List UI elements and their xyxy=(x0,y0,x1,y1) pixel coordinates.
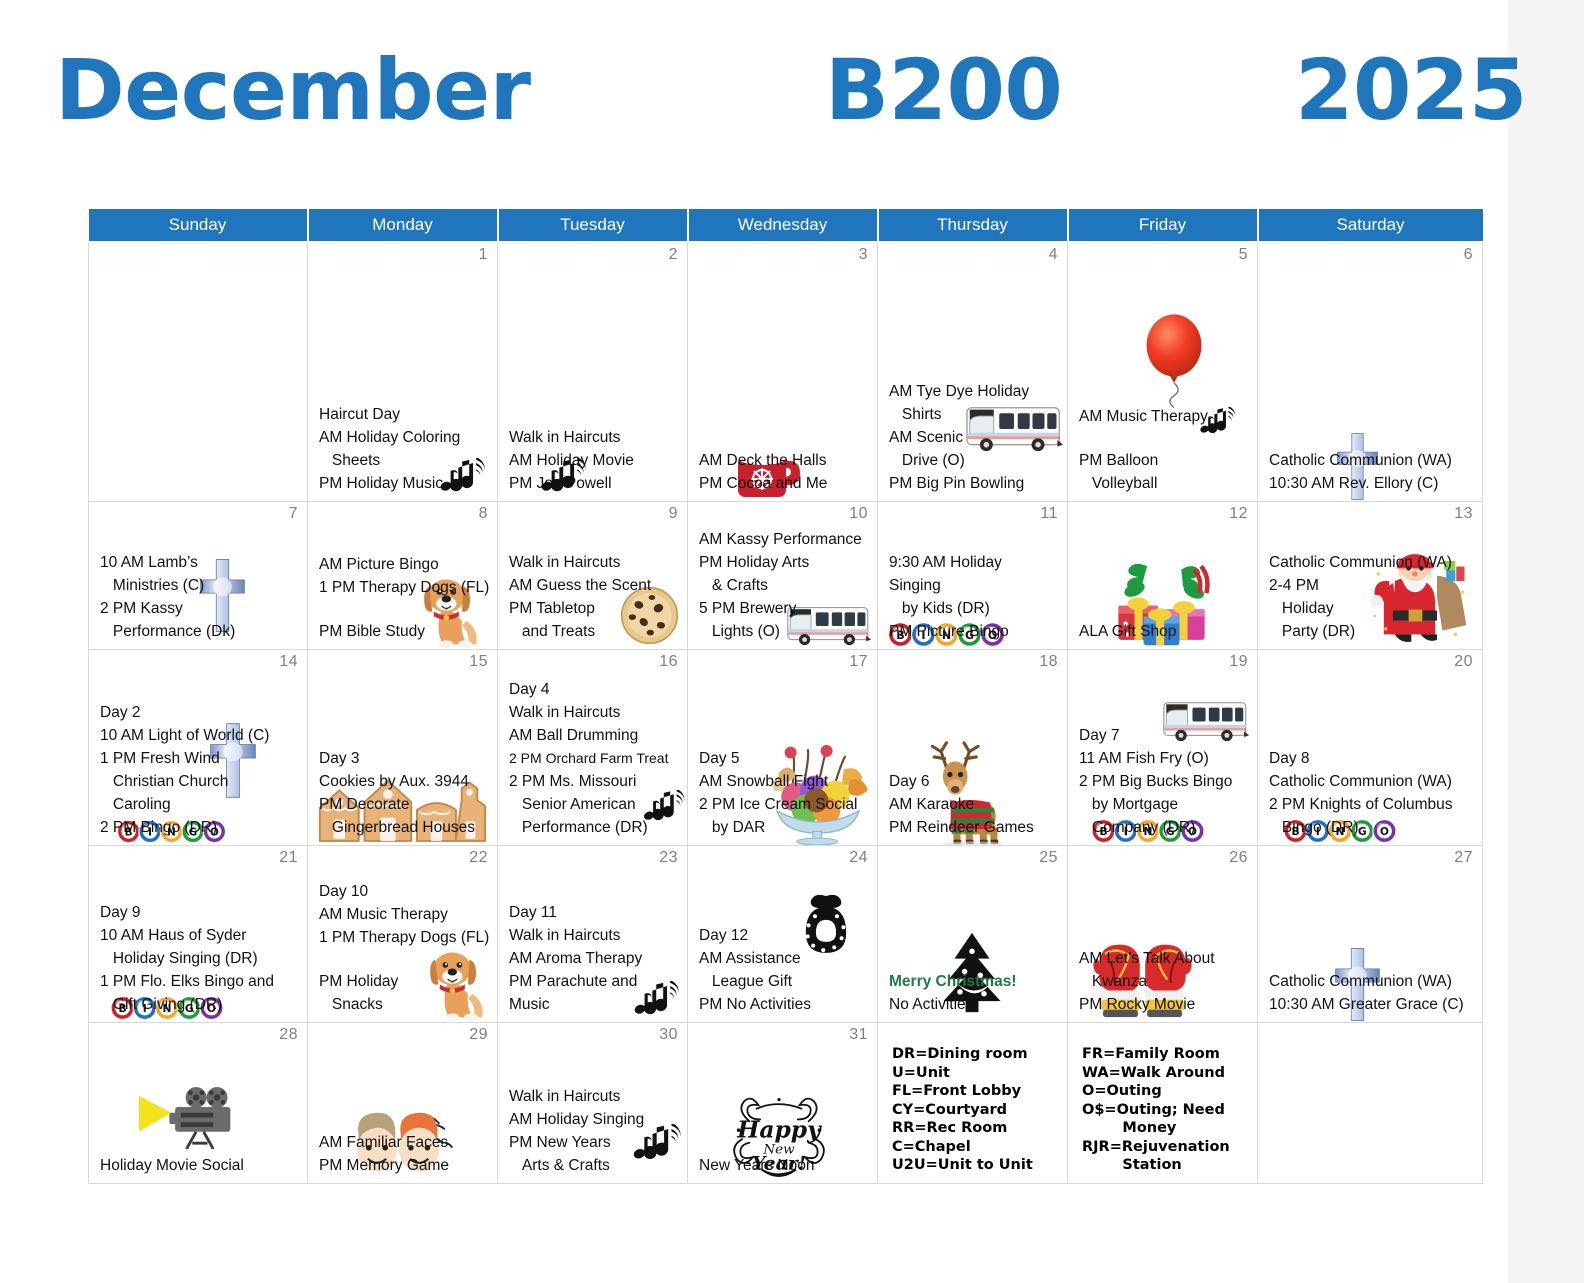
day-number: 29 xyxy=(469,1026,488,1044)
day-event: Day 10 xyxy=(319,880,491,903)
day-event: AM Holiday Coloring xyxy=(319,426,491,449)
day-cell-inner: 1 Haircut DayAM Holiday Coloring SheetsP… xyxy=(308,243,497,501)
legend-entry: FR=Family Room xyxy=(1082,1045,1253,1064)
day-number: 22 xyxy=(469,849,488,867)
day-event: 1 PM Therapy Dogs (FL) xyxy=(319,926,491,949)
day-event: Holiday Movie Social xyxy=(100,1154,301,1177)
day-number: 1 xyxy=(479,246,488,264)
day-event: Day 6 xyxy=(889,770,1061,793)
day-event: Walk in Haircuts xyxy=(509,426,681,449)
day-event: 2 PM Ms. Missouri xyxy=(509,770,681,793)
day-number: 2 xyxy=(669,246,678,264)
calendar-day-cell-6[interactable]: 6 Catholic Communion (WA)10:30 AM Rev. E… xyxy=(1258,242,1483,502)
page-title-year: 2025 xyxy=(1295,40,1527,140)
day-number: 5 xyxy=(1239,246,1248,264)
day-event-list: AM Tye Dye Holiday ShirtsAM Scenic Drive… xyxy=(889,380,1061,495)
day-number: 13 xyxy=(1454,505,1473,523)
day-number: 23 xyxy=(659,849,678,867)
calendar-day-cell-25[interactable]: 25 Merry Christmas!No Activities xyxy=(878,846,1068,1023)
calendar-day-cell-1[interactable]: 1 Haircut DayAM Holiday Coloring SheetsP… xyxy=(308,242,498,502)
day-event: AM Music Therapy xyxy=(319,903,491,926)
day-number: 18 xyxy=(1039,653,1058,671)
day-cell-inner xyxy=(1258,1023,1482,1183)
svg-text:Happy: Happy xyxy=(736,1115,822,1143)
day-event: Music xyxy=(509,993,681,1016)
day-event: Walk in Haircuts xyxy=(509,701,681,724)
day-event: Merry Christmas! xyxy=(889,970,1061,993)
calendar-week-row: 28 Holiday Movie Social29 xyxy=(89,1023,1483,1184)
day-event xyxy=(319,949,491,970)
day-event: Caroling xyxy=(100,793,301,816)
calendar-day-cell-23[interactable]: 23 Day 11Walk in HaircutsAM Aroma Therap… xyxy=(498,846,688,1023)
day-event-list: Day 8Catholic Communion (WA)2 PM Knights… xyxy=(1269,747,1476,839)
day-event-list: AM Deck the HallsPM Cocoa and Me xyxy=(699,449,871,495)
day-event: PM Holiday Arts xyxy=(699,551,871,574)
day-number: 31 xyxy=(849,1026,868,1044)
day-event: AM Scenic xyxy=(889,426,1061,449)
calendar-day-cell-4[interactable]: 4 AM Tye Dye Holiday ShirtsAM Scenic Dri… xyxy=(878,242,1068,502)
day-event: Company (DR) xyxy=(1079,816,1251,839)
weekday-header-saturday: Saturday xyxy=(1258,209,1483,242)
calendar-day-cell-31[interactable]: 31 Happy New Year! New Years Noon xyxy=(688,1023,878,1184)
calendar-day-cell-3[interactable]: 3 AM Deck the HallsPM Cocoa and Me xyxy=(688,242,878,502)
day-event: Day 2 xyxy=(100,701,301,724)
day-event: PM Picture Bingo xyxy=(889,620,1061,643)
day-event: by DAR xyxy=(699,816,871,839)
day-cell-inner: 14 B I N xyxy=(89,650,307,845)
calendar-day-cell-5[interactable]: 5 AM Music TherapyPM Balloon Volleyball xyxy=(1068,242,1258,502)
calendar-day-cell-2[interactable]: 2 Walk in HaircutsAM Holiday MoviePM Joe… xyxy=(498,242,688,502)
day-event: Day 5 xyxy=(699,747,871,770)
day-event: Shirts xyxy=(889,403,1061,426)
day-event: Day 7 xyxy=(1079,724,1251,747)
day-event: Catholic Communion (WA) xyxy=(1269,970,1476,993)
day-event: PM Memory Game xyxy=(319,1154,491,1177)
day-event: 2 PM Knights of Columbus xyxy=(1269,793,1476,816)
day-number: 7 xyxy=(289,505,298,523)
day-event: Day 12 xyxy=(699,924,871,947)
day-number: 9 xyxy=(669,505,678,523)
calendar-day-cell-28[interactable]: 28 Holiday Movie Social xyxy=(89,1023,308,1184)
day-event: 10:30 AM Rev. Ellory (C) xyxy=(1269,472,1476,495)
day-cell-inner: 9 Walk in HaircutsAM Guess the ScentPM T… xyxy=(498,502,687,649)
day-event: 2 PM Orchard Farm Treat xyxy=(509,747,681,770)
day-event: Day 11 xyxy=(509,901,681,924)
legend-entry: O=Outing xyxy=(1082,1082,1253,1101)
calendar-grid: Sunday Monday Tuesday Wednesday Thursday… xyxy=(88,209,1483,1184)
day-cell-inner: 15 Day 3Cookies by Aux. 3944PM Decorate xyxy=(308,650,497,845)
day-event: PM Big Pin Bowling xyxy=(889,472,1061,495)
legend-entry: WA=Walk Around xyxy=(1082,1064,1253,1083)
day-number: 4 xyxy=(1049,246,1058,264)
calendar-page: December B200 2025 Sunday Monday Tuesday… xyxy=(0,0,1508,1283)
day-event: 2 PM Bingo (DR) xyxy=(100,816,301,839)
day-event: AM Guess the Scent xyxy=(509,574,681,597)
day-number: 11 xyxy=(1040,505,1058,523)
day-event: Walk in Haircuts xyxy=(509,551,681,574)
day-event: Day 3 xyxy=(319,747,491,770)
legend-entry: RJR=Rejuvenation xyxy=(1082,1138,1253,1157)
day-event: Day 8 xyxy=(1269,747,1476,770)
day-event: 2 PM Ice Cream Social xyxy=(699,793,871,816)
day-event: 11 AM Fish Fry (O) xyxy=(1079,747,1251,770)
day-event: ALA Gift Shop xyxy=(1079,620,1251,643)
day-number: 25 xyxy=(1039,849,1058,867)
day-event: AM Kassy Performance xyxy=(699,528,871,551)
day-number: 14 xyxy=(279,653,298,671)
day-cell-inner: 19 B I xyxy=(1068,650,1257,845)
day-event: Day 9 xyxy=(100,901,301,924)
day-event: 9:30 AM Holiday xyxy=(889,551,1061,574)
day-cell-inner: 17 Day 5AM Snowball Fight2 PM Ice C xyxy=(688,650,877,845)
legend-entry: Money xyxy=(1082,1119,1253,1138)
calendar-day-cell-20[interactable]: 20 B I N G O xyxy=(1258,650,1483,846)
day-cell-inner: 22 Day 10AM Music Therapy1 PM Therapy Do… xyxy=(308,846,497,1022)
calendar-day-cell-10[interactable]: 10 AM Kassy PerformancePM Holiday Arts &… xyxy=(688,502,878,650)
day-event: AM Holiday Singing xyxy=(509,1108,681,1131)
day-event: AM Picture Bingo xyxy=(319,553,491,576)
day-event: Walk in Haircuts xyxy=(509,924,681,947)
day-event-list: Walk in HaircutsAM Guess the ScentPM Tab… xyxy=(509,551,681,643)
day-event-list: AM Kassy PerformancePM Holiday Arts & Cr… xyxy=(699,528,871,643)
day-event: Sheets xyxy=(319,449,491,472)
legend-entry: RR=Rec Room xyxy=(892,1119,1063,1138)
day-event-list: New Years Noon xyxy=(699,1154,871,1177)
day-event-list: Walk in HaircutsAM Holiday MoviePM Joe P… xyxy=(509,426,681,495)
day-event: Arts & Crafts xyxy=(509,1154,681,1177)
day-event: Holiday xyxy=(1269,597,1476,620)
day-event: Performance (Dk) xyxy=(100,620,301,643)
day-event: AM Ball Drumming xyxy=(509,724,681,747)
day-event xyxy=(319,599,491,620)
day-cell-inner xyxy=(89,243,307,501)
day-cell-inner: 30 Walk in HaircutsAM Holiday SingingPM … xyxy=(498,1023,687,1183)
day-event: Gift Giving (DR) xyxy=(100,993,301,1016)
day-cell-inner: 6 Catholic Communion (WA)10:30 AM Rev. E… xyxy=(1258,243,1482,501)
balloon-icon xyxy=(1142,312,1206,409)
calendar-day-cell-16[interactable]: 16 Day 4Walk in HaircutsAM Ball Drumming… xyxy=(498,650,688,846)
day-event: Day 4 xyxy=(509,678,681,701)
day-event: PM New Years xyxy=(509,1131,681,1154)
calendar-day-cell-14[interactable]: 14 B I N xyxy=(89,650,308,846)
day-event-list: Day 3Cookies by Aux. 3944PM Decorate Gin… xyxy=(319,747,491,839)
legend-entry: U2U=Unit to Unit xyxy=(892,1156,1063,1175)
day-cell-inner: 12 ALA Gift Shop xyxy=(1068,502,1257,649)
calendar-day-cell-13[interactable]: 13 Catholic Communion (WA)2 xyxy=(1258,502,1483,650)
calendar-day-cell-empty xyxy=(89,242,308,502)
day-event: PM Rocky Movie xyxy=(1079,993,1251,1016)
day-event: 5 PM Brewery xyxy=(699,597,871,620)
legend-entry: U=Unit xyxy=(892,1064,1063,1083)
day-cell-inner: 16 Day 4Walk in HaircutsAM Ball Drumming… xyxy=(498,650,687,845)
legend-locations-right: FR=Family RoomWA=Walk AroundO=OutingO$=O… xyxy=(1082,1045,1253,1175)
day-number: 20 xyxy=(1454,653,1473,671)
day-event: 1 PM Therapy Dogs (FL) xyxy=(319,576,491,599)
day-cell-inner: 27 Catholic Communion (WA)10:30 AM Great… xyxy=(1258,846,1482,1022)
day-event: Volleyball xyxy=(1079,472,1251,495)
day-event: AM Music Therapy xyxy=(1079,405,1251,428)
day-cell-inner: 8 AM Picture Bingo1 PM Therapy Dogs (FL)… xyxy=(308,502,497,649)
day-event-list: Catholic Communion (WA)2-4 PM Holiday Pa… xyxy=(1269,551,1476,643)
day-event-list: Haircut DayAM Holiday Coloring SheetsPM … xyxy=(319,403,491,495)
day-event-list: AM Familiar FacesPM Memory Game xyxy=(319,1131,491,1177)
legend-locations-left: DR=Dining roomU=UnitFL=Front LobbyCY=Cou… xyxy=(892,1045,1063,1175)
day-event: Gingerbread Houses xyxy=(319,816,491,839)
day-event: 2 PM Big Bucks Bingo xyxy=(1079,770,1251,793)
day-event: & Crafts xyxy=(699,574,871,597)
day-event: 1 PM Fresh Wind xyxy=(100,747,301,770)
day-event: by Mortgage xyxy=(1079,793,1251,816)
day-event: AM Assistance xyxy=(699,947,871,970)
weekday-header-thursday: Thursday xyxy=(878,209,1068,242)
day-cell-inner: 25 Merry Christmas!No Activities xyxy=(878,846,1067,1022)
calendar-day-cell-26[interactable]: 26 AM Let’s Talk About KwanzaPM Roc xyxy=(1068,846,1258,1023)
calendar-week-row: 14 B I N xyxy=(89,650,1483,846)
day-event: PM Holiday Music xyxy=(319,472,491,495)
weekday-header-monday: Monday xyxy=(308,209,498,242)
calendar-day-cell-8[interactable]: 8 AM Picture Bingo1 PM Therapy Dogs (FL)… xyxy=(308,502,498,650)
day-number: 27 xyxy=(1454,849,1473,867)
day-event: PM Reindeer Games xyxy=(889,816,1061,839)
day-number: 8 xyxy=(479,505,488,523)
day-event: AM Snowball Fight xyxy=(699,770,871,793)
day-event: PM Holiday xyxy=(319,970,491,993)
day-event xyxy=(1079,428,1251,449)
legend-entry: Station xyxy=(1082,1156,1253,1175)
calendar-week-row: 1 Haircut DayAM Holiday Coloring SheetsP… xyxy=(89,242,1483,502)
day-cell-inner: 28 Holiday Movie Social xyxy=(89,1023,307,1183)
day-event: and Treats xyxy=(509,620,681,643)
day-event: 2-4 PM xyxy=(1269,574,1476,597)
calendar-day-cell-24[interactable]: 24 Day 12AM Assistance League GiftPM No … xyxy=(688,846,878,1023)
day-event-list: Merry Christmas!No Activities xyxy=(889,970,1061,1016)
day-event-list: Day 4Walk in HaircutsAM Ball Drumming2 P… xyxy=(509,678,681,839)
day-event: Drive (O) xyxy=(889,449,1061,472)
day-cell-inner: DR=Dining roomU=UnitFL=Front LobbyCY=Cou… xyxy=(878,1023,1067,1183)
day-cell-inner: 5 AM Music TherapyPM Balloon Volleyball xyxy=(1068,243,1257,501)
day-event: Christian Church xyxy=(100,770,301,793)
day-event-list: 10 AM Lamb’s Ministries (C)2 PM Kassy Pe… xyxy=(100,551,301,643)
day-number: 26 xyxy=(1229,849,1248,867)
day-event: PM Decorate xyxy=(319,793,491,816)
legend-entry: O$=Outing; Need xyxy=(1082,1101,1253,1120)
day-event: AM Deck the Halls xyxy=(699,449,871,472)
weekday-header-sunday: Sunday xyxy=(89,209,308,242)
day-event: AM Familiar Faces xyxy=(319,1131,491,1154)
day-event-list: ALA Gift Shop xyxy=(1079,620,1251,643)
calendar-day-cell-12[interactable]: 12 ALA Gift Shop xyxy=(1068,502,1258,650)
day-cell-inner: 21 B I N G O xyxy=(89,846,307,1022)
day-event: PM No Activities xyxy=(699,993,871,1016)
page-title-unit: B200 xyxy=(825,40,1062,140)
calendar-day-cell-empty: DR=Dining roomU=UnitFL=Front LobbyCY=Cou… xyxy=(878,1023,1068,1184)
day-event-list: AM Picture Bingo1 PM Therapy Dogs (FL)PM… xyxy=(319,553,491,643)
calendar-day-cell-empty xyxy=(1258,1023,1483,1184)
day-number: 3 xyxy=(859,246,868,264)
day-event: Party (DR) xyxy=(1269,620,1476,643)
day-event-list: Day 210 AM Light of World (C)1 PM Fresh … xyxy=(100,701,301,839)
calendar-day-cell-19[interactable]: 19 B I xyxy=(1068,650,1258,846)
day-cell-inner: 31 Happy New Year! New Years Noon xyxy=(688,1023,877,1183)
day-event: AM Karaoke xyxy=(889,793,1061,816)
day-event: Senior American xyxy=(509,793,681,816)
day-event-list: Catholic Communion (WA)10:30 AM Rev. Ell… xyxy=(1269,449,1476,495)
day-event: New Years Noon xyxy=(699,1154,871,1177)
page-title-month: December xyxy=(55,40,531,140)
calendar-day-cell-30[interactable]: 30 Walk in HaircutsAM Holiday SingingPM … xyxy=(498,1023,688,1184)
legend-entry: CY=Courtyard xyxy=(892,1101,1063,1120)
weekday-header-friday: Friday xyxy=(1068,209,1258,242)
day-event: 1 PM Flo. Elks Bingo and xyxy=(100,970,301,993)
calendar-week-row: 21 B I N G O xyxy=(89,846,1483,1023)
legend-entry: C=Chapel xyxy=(892,1138,1063,1157)
day-cell-inner: 18 Day 6AM KaraokePM Reindeer Ga xyxy=(878,650,1067,845)
day-event: AM Aroma Therapy xyxy=(509,947,681,970)
day-cell-inner: 11 B I N G O xyxy=(878,502,1067,649)
day-event: PM Joe Powell xyxy=(509,472,681,495)
day-cell-inner: 3 AM Deck the HallsPM Cocoa and Me xyxy=(688,243,877,501)
weekday-header-tuesday: Tuesday xyxy=(498,209,688,242)
day-event: PM Tabletop xyxy=(509,597,681,620)
calendar-day-cell-9[interactable]: 9 Walk in HaircutsAM Guess the ScentPM T… xyxy=(498,502,688,650)
calendar-day-cell-7[interactable]: 7 10 AM Lamb’s Ministries (C)2 PM Kassy … xyxy=(89,502,308,650)
day-event: AM Tye Dye Holiday xyxy=(889,380,1061,403)
day-event: 10 AM Haus of Syder xyxy=(100,924,301,947)
calendar-day-cell-21[interactable]: 21 B I N G O xyxy=(89,846,308,1023)
day-cell-inner: 20 B I N G O xyxy=(1258,650,1482,845)
day-number: 17 xyxy=(849,653,868,671)
day-event-list: Holiday Movie Social xyxy=(100,1154,301,1177)
day-event: Catholic Communion (WA) xyxy=(1269,551,1476,574)
day-event-list: Day 910 AM Haus of Syder Holiday Singing… xyxy=(100,901,301,1016)
calendar-title-bar: December B200 2025 xyxy=(0,40,1508,160)
calendar-day-cell-29[interactable]: 29 AM Familiar FacesPM Memory Game xyxy=(308,1023,498,1184)
day-event: PM Cocoa and Me xyxy=(699,472,871,495)
day-event: AM Let’s Talk About xyxy=(1079,947,1251,970)
day-event: Cookies by Aux. 3944 xyxy=(319,770,491,793)
day-number: 6 xyxy=(1464,246,1473,264)
day-event-list: Walk in HaircutsAM Holiday SingingPM New… xyxy=(509,1085,681,1177)
day-cell-inner: 24 Day 12AM Assistance League GiftPM No … xyxy=(688,846,877,1022)
day-event: Lights (O) xyxy=(699,620,871,643)
day-number: 24 xyxy=(849,849,868,867)
calendar-day-cell-27[interactable]: 27 Catholic Communion (WA)10:30 AM Great… xyxy=(1258,846,1483,1023)
weekday-header-wednesday: Wednesday xyxy=(688,209,878,242)
day-event: Catholic Communion (WA) xyxy=(1269,770,1476,793)
day-cell-inner: 23 Day 11Walk in HaircutsAM Aroma Therap… xyxy=(498,846,687,1022)
day-event-list: Day 10AM Music Therapy1 PM Therapy Dogs … xyxy=(319,880,491,1016)
day-number: 16 xyxy=(659,653,678,671)
day-event-list: AM Music TherapyPM Balloon Volleyball xyxy=(1079,405,1251,495)
day-cell-inner: FR=Family RoomWA=Walk AroundO=OutingO$=O… xyxy=(1068,1023,1257,1183)
day-cell-inner: 10 AM Kassy PerformancePM Holiday Arts &… xyxy=(688,502,877,649)
day-event: Catholic Communion (WA) xyxy=(1269,449,1476,472)
calendar-day-cell-empty: FR=Family RoomWA=Walk AroundO=OutingO$=O… xyxy=(1068,1023,1258,1184)
day-event: by Kids (DR) xyxy=(889,597,1061,620)
day-event-list: Day 11Walk in HaircutsAM Aroma TherapyPM… xyxy=(509,901,681,1016)
day-cell-inner: 2 Walk in HaircutsAM Holiday MoviePM Joe… xyxy=(498,243,687,501)
day-cell-inner: 29 AM Familiar FacesPM Memory Game xyxy=(308,1023,497,1183)
calendar-day-cell-18[interactable]: 18 Day 6AM KaraokePM Reindeer Ga xyxy=(878,650,1068,846)
day-number: 28 xyxy=(279,1026,298,1044)
calendar-day-cell-17[interactable]: 17 Day 5AM Snowball Fight2 PM Ice C xyxy=(688,650,878,846)
day-event: PM Bible Study xyxy=(319,620,491,643)
day-event-list: Day 6AM KaraokePM Reindeer Games xyxy=(889,770,1061,839)
day-cell-inner: 26 AM Let’s Talk About KwanzaPM Roc xyxy=(1068,846,1257,1022)
day-cell-inner: 13 Catholic Communion (WA)2 xyxy=(1258,502,1482,649)
day-event: Snacks xyxy=(319,993,491,1016)
day-event: Ministries (C) xyxy=(100,574,301,597)
day-number: 21 xyxy=(279,849,298,867)
calendar-day-cell-22[interactable]: 22 Day 10AM Music Therapy1 PM Therapy Do… xyxy=(308,846,498,1023)
day-number: 12 xyxy=(1229,505,1248,523)
day-event: Singing xyxy=(889,574,1061,597)
day-event: 10:30 AM Greater Grace (C) xyxy=(1269,993,1476,1016)
day-event: 10 AM Lamb’s xyxy=(100,551,301,574)
day-event-list: Day 12AM Assistance League GiftPM No Act… xyxy=(699,924,871,1016)
movie-projector-icon xyxy=(137,1086,238,1149)
day-event-list: AM Let’s Talk About KwanzaPM Rocky Movie xyxy=(1079,947,1251,1016)
legend-entry: DR=Dining room xyxy=(892,1045,1063,1064)
day-number: 15 xyxy=(469,653,488,671)
day-number: 10 xyxy=(849,505,868,523)
day-event-list: Day 711 AM Fish Fry (O)2 PM Big Bucks Bi… xyxy=(1079,724,1251,839)
day-event: PM Balloon xyxy=(1079,449,1251,472)
day-cell-inner: 7 10 AM Lamb’s Ministries (C)2 PM Kassy … xyxy=(89,502,307,649)
day-number: 30 xyxy=(659,1026,678,1044)
day-event: No Activities xyxy=(889,993,1061,1016)
day-event: 2 PM Kassy xyxy=(100,597,301,620)
day-event-list: 9:30 AM HolidaySinging by Kids (DR)PM Pi… xyxy=(889,551,1061,643)
calendar-week-row: 7 10 AM Lamb’s Ministries (C)2 PM Kassy … xyxy=(89,502,1483,650)
day-event: Walk in Haircuts xyxy=(509,1085,681,1108)
day-event: Performance (DR) xyxy=(509,816,681,839)
day-number: 19 xyxy=(1229,653,1248,671)
legend-entry: FL=Front Lobby xyxy=(892,1082,1063,1101)
weekday-header-row: Sunday Monday Tuesday Wednesday Thursday… xyxy=(89,209,1483,242)
day-event-list: Day 5AM Snowball Fight2 PM Ice Cream Soc… xyxy=(699,747,871,839)
day-event-list: Catholic Communion (WA)10:30 AM Greater … xyxy=(1269,970,1476,1016)
day-event: Bingo (DR) xyxy=(1269,816,1476,839)
day-event: 10 AM Light of World (C) xyxy=(100,724,301,747)
day-event: League Gift xyxy=(699,970,871,993)
day-event: PM Parachute and xyxy=(509,970,681,993)
day-event: AM Holiday Movie xyxy=(509,449,681,472)
day-event: Kwanza xyxy=(1079,970,1251,993)
calendar-day-cell-15[interactable]: 15 Day 3Cookies by Aux. 3944PM Decorate xyxy=(308,650,498,846)
calendar-day-cell-11[interactable]: 11 B I N G O xyxy=(878,502,1068,650)
day-cell-inner: 4 AM Tye Dye Holiday ShirtsAM Scenic Dri… xyxy=(878,243,1067,501)
day-event: Holiday Singing (DR) xyxy=(100,947,301,970)
day-event: Haircut Day xyxy=(319,403,491,426)
